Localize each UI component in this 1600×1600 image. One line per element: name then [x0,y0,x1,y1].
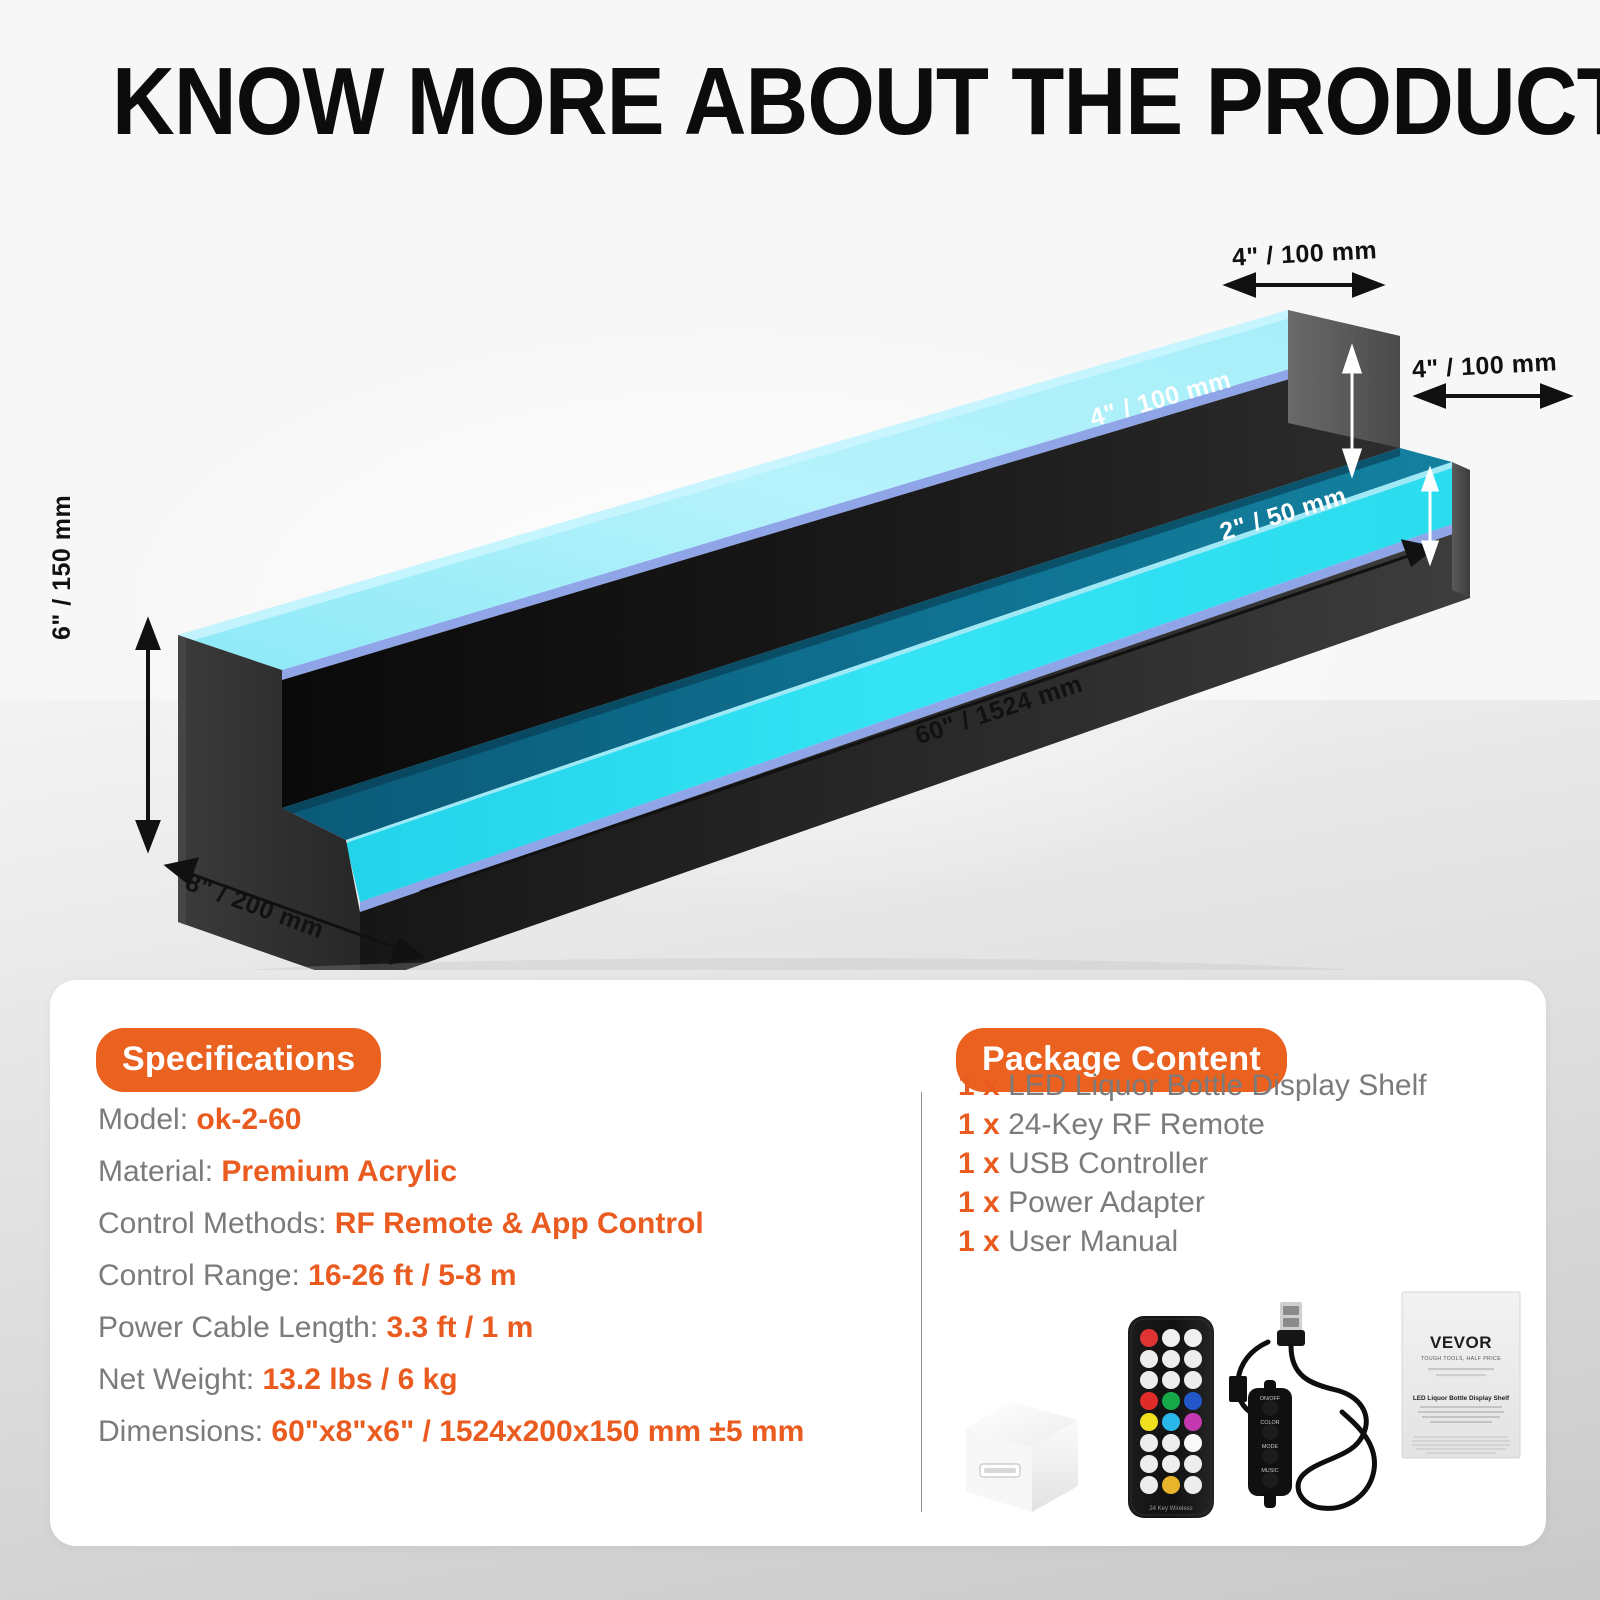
spec-row: Control Range: 16-26 ft / 5-8 m [98,1258,898,1294]
controller-button-music: MUSIC [1261,1468,1278,1474]
spec-value: 16-26 ft / 5-8 m [308,1259,516,1292]
spec-value: 3.3 ft / 1 m [387,1311,534,1344]
spec-value: ok-2-60 [196,1103,301,1136]
spec-label: Control Range: [98,1259,300,1292]
spec-value: 13.2 lbs / 6 kg [263,1363,458,1396]
spec-value: Premium Acrylic [221,1155,457,1188]
spec-label: Dimensions: [98,1415,263,1448]
item-name: 24-Key RF Remote [1008,1108,1265,1141]
spec-row: Power Cable Length: 3.3 ft / 1 m [98,1310,898,1346]
specifications-badge: Specifications [96,1028,381,1092]
spec-row: Dimensions: 60"x8"x6" / 1524x200x150 mm … [98,1414,898,1450]
spec-label: Net Weight: [98,1363,254,1396]
controller-button-on-off: ON/OFF [1260,1396,1281,1402]
item-name: USB Controller [1008,1147,1208,1180]
item-quantity: 1 x [958,1108,1000,1141]
spec-label: Model: [98,1103,188,1136]
item-name: Power Adapter [1008,1186,1205,1219]
remote-footer-text: 24 Key Wireless [1149,1506,1192,1512]
manual-brand: VEVOR [1430,1333,1492,1352]
spec-value: 60"x8"x6" / 1524x200x150 mm ±5 mm [271,1415,804,1448]
list-item: 1 x LED Liquor Bottle Display Shelf [958,1066,1538,1105]
spec-label: Power Cable Length: [98,1311,378,1344]
item-quantity: 1 x [958,1147,1000,1180]
specifications-list: Model: ok-2-60 Material: Premium Acrylic… [98,1102,898,1466]
item-quantity: 1 x [958,1225,1000,1258]
list-item: 1 x USB Controller [958,1144,1538,1183]
spec-label: Material: [98,1155,213,1188]
usb-controller-icon: ON/OFF COLOR MODE MUSIC [1229,1302,1375,1508]
item-name: User Manual [1008,1225,1178,1258]
page-title: KNOW MORE ABOUT THE PRODUCT [112,52,1379,152]
spec-row: Model: ok-2-60 [98,1102,898,1138]
list-item: 1 x Power Adapter [958,1183,1538,1222]
power-adapter-icon [966,1402,1078,1512]
item-quantity: 1 x [958,1186,1000,1219]
user-manual-icon: VEVOR TOUGH TOOLS, HALF PRICE LED Liquor… [1402,1292,1520,1458]
product-diagram: 4" / 100 mm 4" / 100 mm 4" / 100 mm 2" /… [0,180,1600,970]
list-item: 1 x 24-Key RF Remote [958,1105,1538,1144]
package-content-list: 1 x LED Liquor Bottle Display Shelf 1 x … [958,1066,1538,1261]
spec-value: RF Remote & App Control [335,1207,704,1240]
manual-product: LED Liquor Bottle Display Shelf [1413,1395,1510,1402]
spec-label: Control Methods: [98,1207,326,1240]
item-quantity: 1 x [958,1069,1000,1102]
rf-remote-icon: 24 Key Wireless [1128,1316,1214,1518]
spec-row: Control Methods: RF Remote & App Control [98,1206,898,1242]
controller-button-color: COLOR [1260,1420,1279,1426]
list-item: 1 x User Manual [958,1222,1538,1261]
info-card: Specifications Package Content Model: ok… [50,980,1546,1546]
item-name: LED Liquor Bottle Display Shelf [1008,1069,1427,1102]
spec-row: Material: Premium Acrylic [98,1154,898,1190]
manual-tagline: TOUGH TOOLS, HALF PRICE [1421,1356,1501,1362]
dimension-overall-height: 6" / 150 mm [48,495,77,640]
panel-divider [921,1092,922,1512]
specifications-badge-wrap: Specifications [96,1028,381,1092]
shelf-3d-illustration [0,180,1600,970]
spec-row: Net Weight: 13.2 lbs / 6 kg [98,1362,898,1398]
accessories-illustration: 24 Key Wireless [950,1280,1530,1530]
controller-button-mode: MODE [1262,1444,1279,1450]
